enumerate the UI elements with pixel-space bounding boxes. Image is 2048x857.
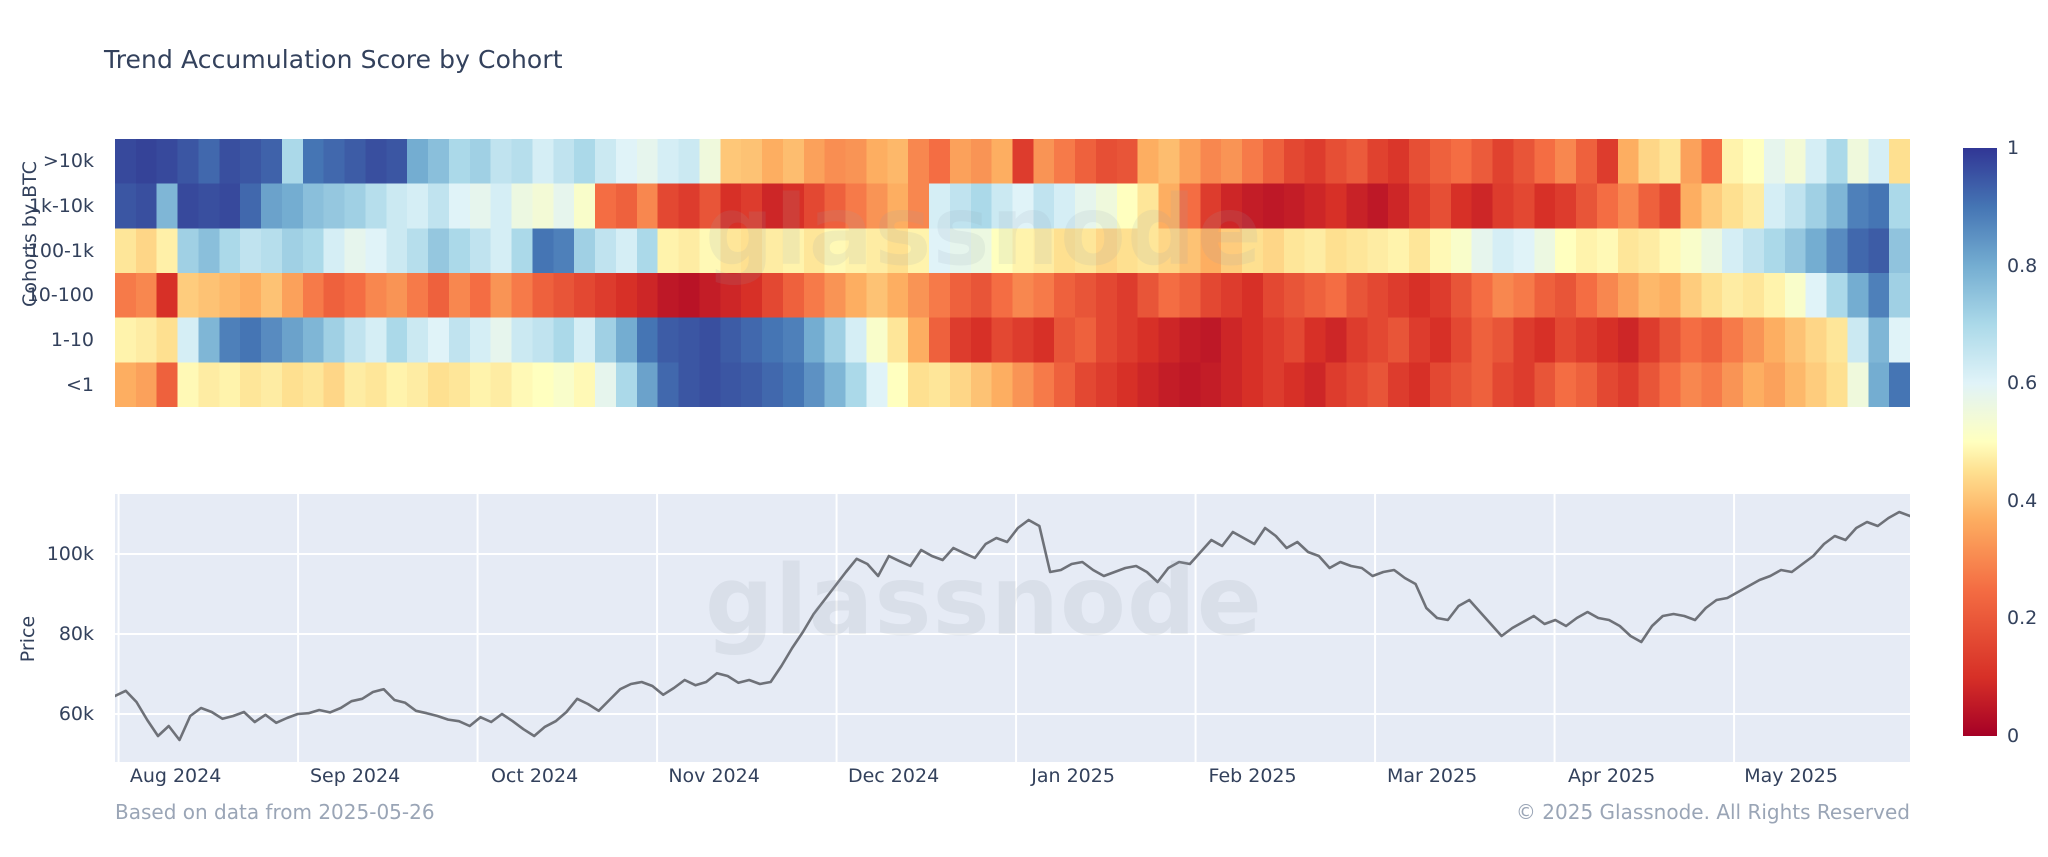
colorbar-gradient: [1963, 148, 1997, 736]
x-axis-tick: Sep 2024: [310, 765, 400, 787]
price-line-chart[interactable]: [115, 494, 1910, 762]
x-axis-tick: Feb 2025: [1209, 765, 1297, 787]
x-axis-tick: Dec 2024: [848, 765, 939, 787]
x-axis-tick: Nov 2024: [668, 765, 759, 787]
price-y-tick: 60k: [59, 703, 94, 725]
footer-data-date: Based on data from 2025-05-26: [115, 800, 435, 824]
colorbar-tick: 0.4: [2007, 490, 2037, 512]
price-y-tick: 80k: [59, 623, 94, 645]
chart-canvas: Trend Accumulation Score by Cohort Cohor…: [0, 0, 2048, 857]
heatmap-y-tick: >10k: [43, 150, 94, 172]
x-axis-tick: Oct 2024: [491, 765, 578, 787]
price-y-tick-labels: 100k80k60k: [0, 494, 104, 762]
x-axis-tick: May 2025: [1744, 765, 1838, 787]
heatmap-y-tick: 100-1k: [28, 240, 94, 262]
x-axis-tick-labels: Aug 2024Sep 2024Oct 2024Nov 2024Dec 2024…: [0, 765, 2048, 795]
colorbar: 10.80.60.40.20: [1963, 148, 1997, 736]
x-axis-tick: Aug 2024: [130, 765, 222, 787]
colorbar-tick: 0.6: [2007, 372, 2037, 394]
heatmap-grid[interactable]: [115, 139, 1910, 407]
x-axis-tick: Jan 2025: [1031, 765, 1115, 787]
colorbar-tick: 0: [2007, 725, 2019, 747]
price-panel[interactable]: [115, 494, 1910, 762]
colorbar-tick: 1: [2007, 137, 2019, 159]
price-y-tick: 100k: [47, 543, 94, 565]
x-axis-tick: Apr 2025: [1568, 765, 1655, 787]
heatmap-y-tick: 10-100: [27, 284, 94, 306]
heatmap-panel[interactable]: [115, 139, 1910, 407]
heatmap-y-tick: 1-10: [51, 329, 94, 351]
x-axis-tick: Mar 2025: [1387, 765, 1477, 787]
colorbar-tick: 0.2: [2007, 607, 2037, 629]
page-title: Trend Accumulation Score by Cohort: [104, 45, 563, 74]
footer-copyright: © 2025 Glassnode. All Rights Reserved: [1516, 800, 1910, 824]
colorbar-tick: 0.8: [2007, 255, 2037, 277]
heatmap-y-tick: 1k-10k: [29, 195, 94, 217]
heatmap-y-tick-labels: >10k1k-10k100-1k10-1001-10<1: [0, 139, 104, 407]
heatmap-y-tick: <1: [66, 374, 94, 396]
